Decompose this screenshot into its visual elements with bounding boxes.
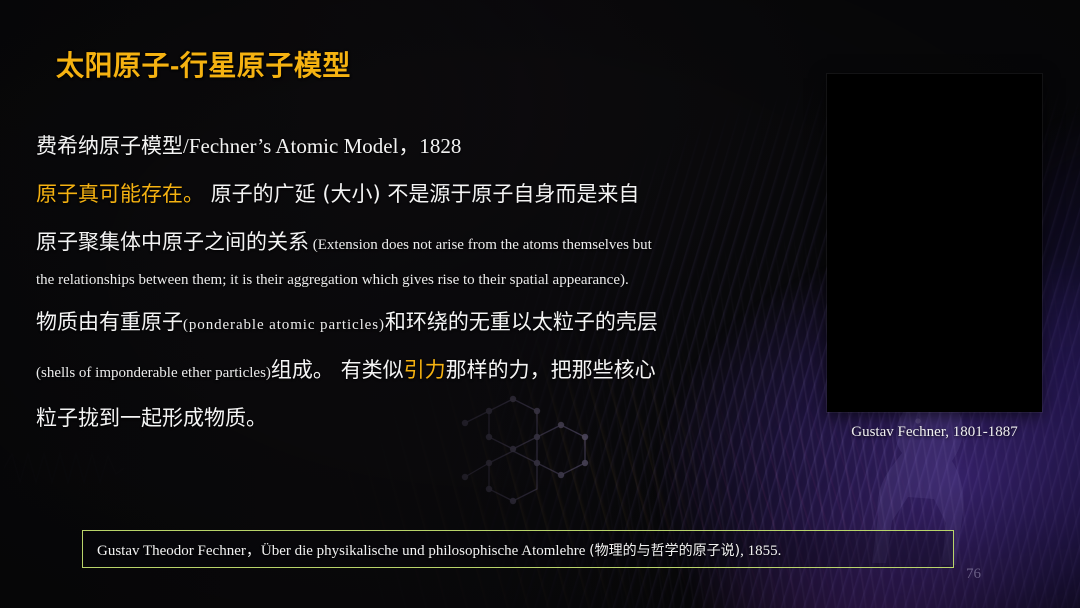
page-number: 76 [966,566,981,583]
body-line-1: 费希纳原子模型/Fechner’s Atomic Model，1828 [36,136,461,157]
portrait-photo [827,74,1042,412]
body-line-1-en: /Fechner’s Atomic Model，1828 [183,134,461,158]
body-line-5: 物质由有重原子(ponderable atomic particles)和环绕的… [36,312,658,333]
portrait-caption: Gustav Fechner, 1801-1887 [827,424,1042,441]
body-line-2-rest: 原子的广延 (大小) 不是源于原子自身而是来自 [204,182,639,206]
body-line-3-en: (Extension does not arise from the atoms… [309,237,652,253]
body-line-3-cn: 原子聚集体中原子之间的关系 [36,230,309,254]
page-title: 太阳原子-行星原子模型 [56,44,351,84]
body-line-5-cn-a: 物质由有重原子 [36,310,183,334]
body-line-2-highlight: 原子真可能存在。 [36,182,204,206]
body-line-5-en: (ponderable atomic particles) [183,317,385,333]
body-line-6: (shells of imponderable ether particles)… [36,360,656,381]
molecule-hexagon-icon [443,377,593,517]
citation-box: Gustav Theodor Fechner，Über die physikal… [82,530,954,568]
body-line-7-cn: 粒子拢到一起形成物质。 [36,406,267,430]
body-line-5-cn-b: 和环绕的无重以太粒子的壳层 [385,310,658,334]
body-line-1-cn: 费希纳原子模型 [36,134,183,158]
gustav-fechner-portrait-illustration [827,74,1042,412]
waveform-icon [4,444,124,492]
citation-author: Gustav Theodor Fechner， [97,543,261,559]
body-line-4-en: the relationships between them; it is th… [36,272,629,288]
body-line-7: 粒子拢到一起形成物质。 [36,408,267,429]
body-line-2: 原子真可能存在。 原子的广延 (大小) 不是源于原子自身而是来自 [36,184,639,205]
citation-year: , 1855. [740,543,781,559]
body-line-6-en: (shells of imponderable ether particles) [36,365,271,381]
slide-canvas: 太阳原子-行星原子模型 费希纳原子模型/Fechner’s Atomic Mod… [0,0,1080,608]
citation-text: Gustav Theodor Fechner，Über die physikal… [97,539,781,560]
citation-translation: (物理的与哲学的原子说) [589,543,740,559]
body-line-3: 原子聚集体中原子之间的关系 (Extension does not arise … [36,232,652,253]
body-line-6-highlight: 引力 [404,358,446,382]
citation-work: Über die physikalische und philosophisch… [261,543,589,559]
body-line-6-cn-b: 那样的力，把那些核心 [446,358,656,382]
body-line-4: the relationships between them; it is th… [36,272,629,288]
body-line-6-cn-a: 组成。 有类似 [271,358,404,382]
